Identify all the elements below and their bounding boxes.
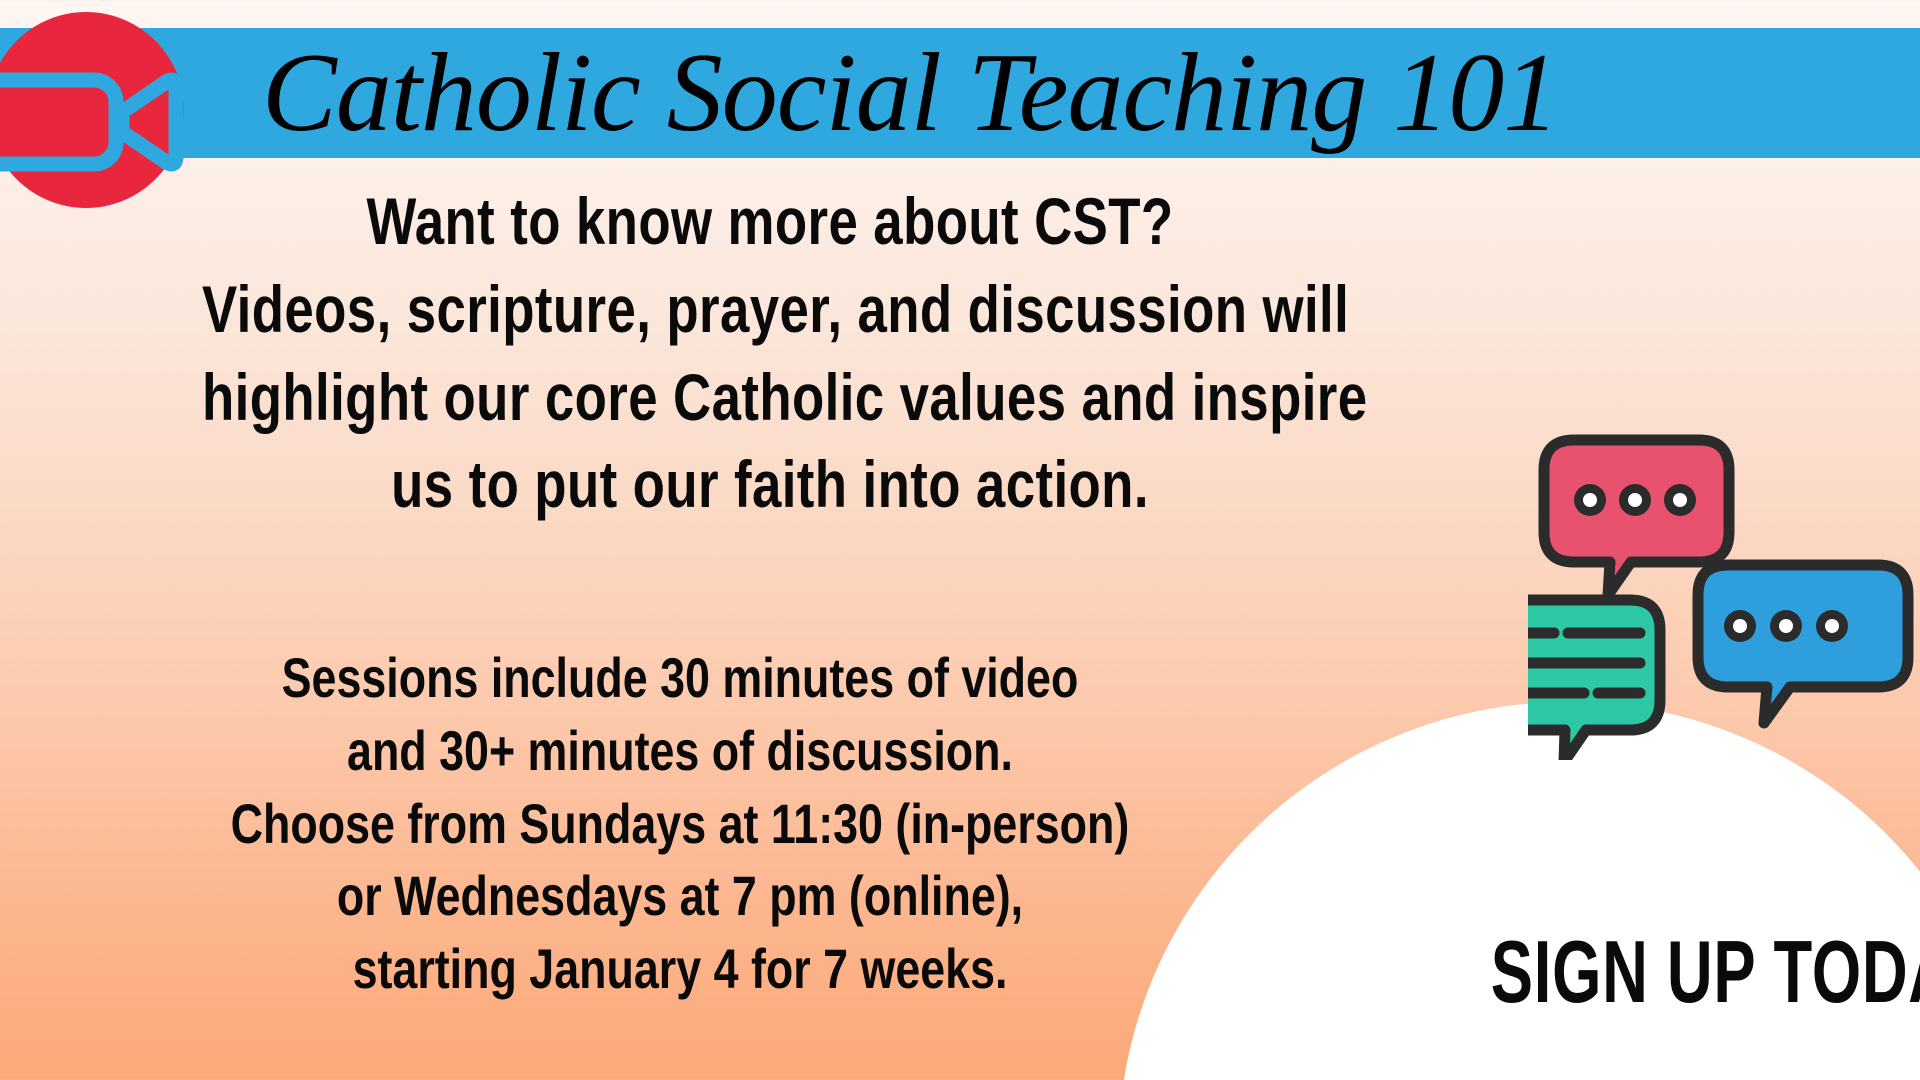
video-camera-icon <box>0 72 186 172</box>
sign-up-today-label[interactable]: SIGN UP TODAY! <box>1491 928 1865 1016</box>
details-line-1: Sessions include 30 minutes of video <box>200 642 1160 715</box>
headline-block: Want to know more about CST? Videos, scr… <box>202 178 1338 529</box>
details-block: Sessions include 30 minutes of video and… <box>200 642 1160 1006</box>
headline-line-1: Want to know more about CST? <box>202 178 1338 266</box>
speech-bubbles-group <box>1528 430 1920 760</box>
details-line-4: or Wednesdays at 7 pm (online), <box>200 860 1160 933</box>
page-title: Catholic Social Teaching 101 <box>262 37 1558 149</box>
teal-lines-bubble <box>1528 600 1660 760</box>
blue-dots-bubble <box>1698 565 1908 723</box>
headline-line-2: Videos, scripture, prayer, and discussio… <box>202 266 1338 354</box>
title-banner: Catholic Social Teaching 101 <box>0 28 1920 158</box>
headline-line-3: highlight our core Catholic values and i… <box>202 354 1338 442</box>
headline-line-4: us to put our faith into action. <box>202 441 1338 529</box>
details-line-2: and 30+ minutes of discussion. <box>200 715 1160 788</box>
details-line-5: starting January 4 for 7 weeks. <box>200 933 1160 1006</box>
details-line-3: Choose from Sundays at 11:30 (in-person) <box>200 788 1160 861</box>
